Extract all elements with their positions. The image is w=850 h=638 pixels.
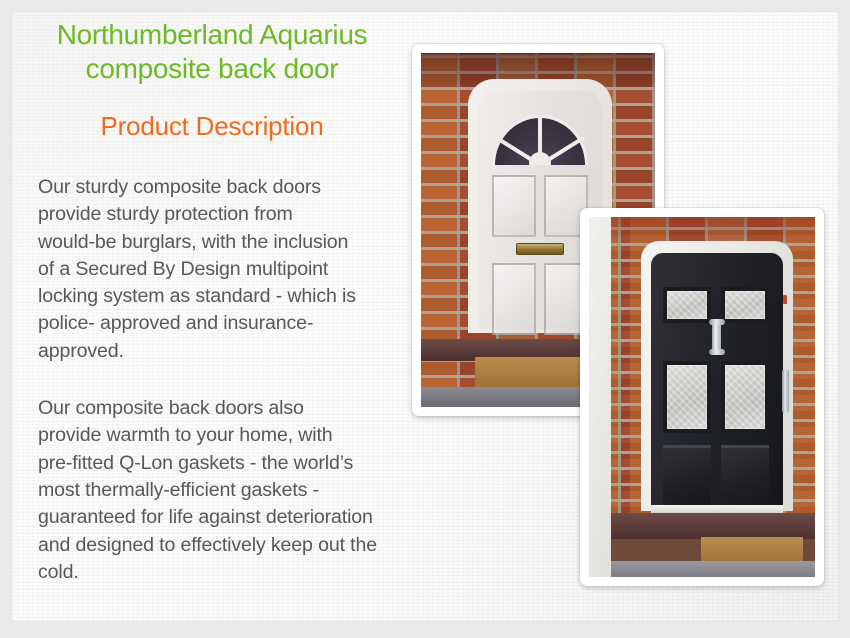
- black-door-glass-top-left: [663, 287, 711, 323]
- description-paragraph-1: Our sturdy composite back doors provide …: [26, 174, 398, 365]
- white-door-panel-upper-left: [492, 175, 536, 237]
- door-handle-lever: [782, 369, 789, 413]
- rendered-wall-left-overlay: [589, 217, 611, 577]
- letterbox: [516, 243, 564, 255]
- fanlight-window: [492, 115, 588, 165]
- slide-page: Northumberland Aquarius composite back d…: [0, 0, 850, 638]
- paving-black: [611, 561, 815, 577]
- black-door-glass-top-right: [721, 287, 769, 323]
- black-door-glass-mid-right: [721, 361, 769, 433]
- black-composite-back-door-photo: [580, 208, 824, 586]
- page-title: Northumberland Aquarius composite back d…: [26, 18, 398, 86]
- text-column: Northumberland Aquarius composite back d…: [26, 18, 398, 586]
- brick-arch-shadow-black: [611, 217, 815, 243]
- description-paragraph-2: Our composite back doors also provide wa…: [26, 395, 398, 586]
- black-door-photo-image: [589, 217, 815, 577]
- black-door-glass-mid-left: [663, 361, 711, 433]
- white-door-panel-lower-left: [492, 263, 536, 335]
- door-lock-black: [783, 295, 787, 304]
- doorstep-black: [611, 513, 815, 539]
- door-knocker: [712, 321, 721, 353]
- black-door-leaf: [651, 253, 783, 507]
- section-heading-product-description: Product Description: [26, 111, 398, 141]
